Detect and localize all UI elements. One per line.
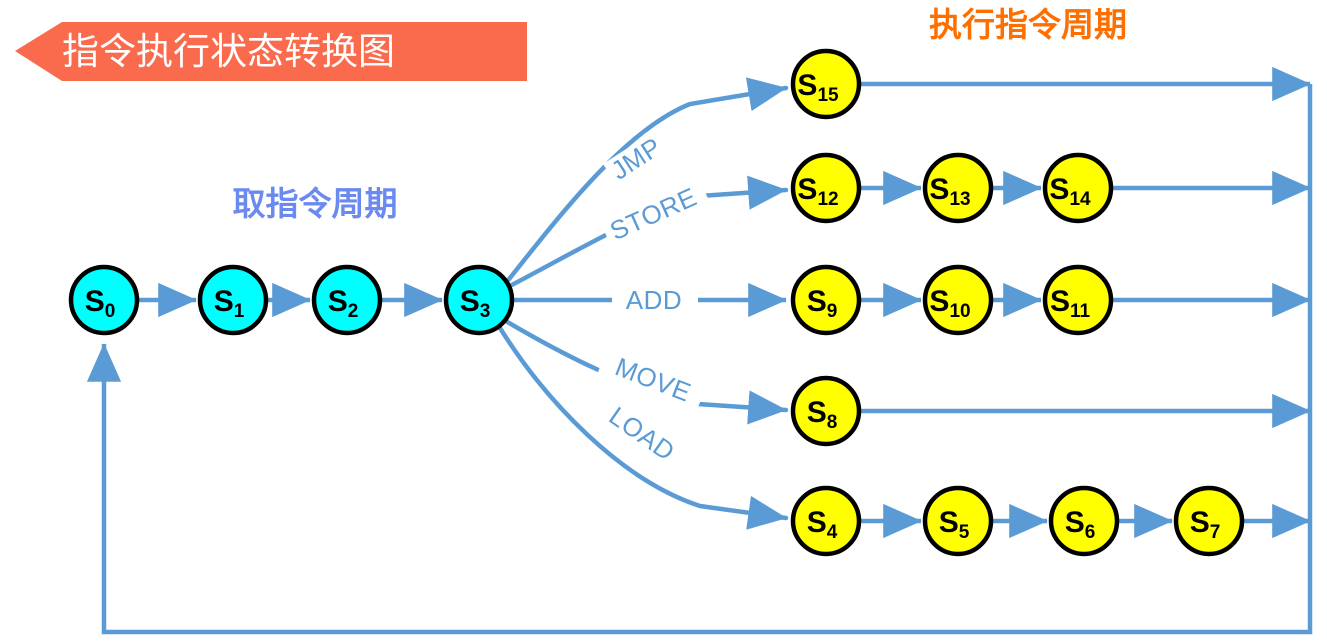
node-S14[interactable]: S14 — [1045, 155, 1111, 221]
edge-S3-JMP-S15 — [506, 88, 786, 283]
edge-return-bus-to-S0 — [104, 84, 1310, 632]
banner-title: 指令执行状态转换图 — [62, 30, 395, 73]
edges-layer: JMP STORE ADD MOVE LOAD — [104, 84, 1310, 632]
execute-cycle-label: 执行指令周期 — [929, 5, 1127, 44]
diagram-canvas: 指令执行状态转换图 取指令周期 执行指令周期 — [0, 0, 1327, 643]
node-S2[interactable]: S2 — [314, 267, 380, 333]
node-S3[interactable]: S3 — [446, 267, 512, 333]
node-S7[interactable]: S7 — [1176, 488, 1242, 554]
node-S12[interactable]: S12 — [793, 155, 859, 221]
node-S0[interactable]: S0 — [71, 267, 137, 333]
node-S11[interactable]: S11 — [1045, 267, 1111, 333]
node-S5[interactable]: S5 — [925, 488, 991, 554]
node-S6[interactable]: S6 — [1051, 488, 1117, 554]
node-S1[interactable]: S1 — [200, 267, 266, 333]
node-S9[interactable]: S9 — [793, 267, 859, 333]
node-S13[interactable]: S13 — [925, 155, 991, 221]
edge-label-add: ADD — [626, 285, 682, 315]
title-banner: 指令执行状态转换图 — [15, 22, 527, 81]
fetch-cycle-label: 取指令周期 — [233, 184, 398, 223]
node-S8[interactable]: S8 — [793, 378, 859, 444]
state-transition-diagram: 指令执行状态转换图 取指令周期 执行指令周期 — [0, 0, 1327, 643]
node-S4[interactable]: S4 — [793, 488, 859, 554]
node-S15[interactable]: S15 — [793, 51, 859, 117]
node-S10[interactable]: S10 — [925, 267, 991, 333]
